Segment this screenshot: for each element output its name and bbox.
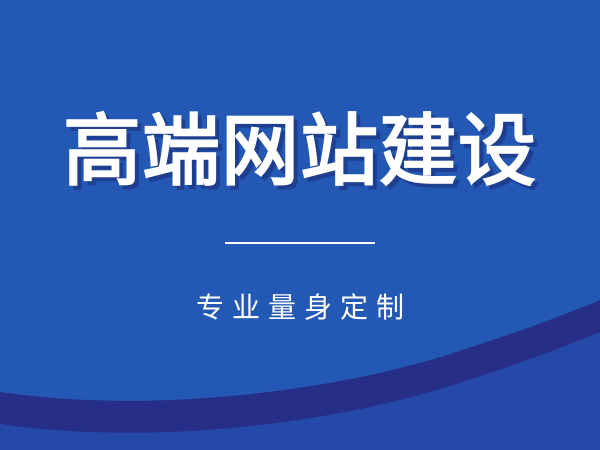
page-subtitle: 专业量身定制 bbox=[0, 291, 600, 325]
banner-content: 高端网站建设 专业量身定制 bbox=[0, 0, 600, 450]
promo-banner: 高端网站建设 专业量身定制 bbox=[0, 0, 600, 450]
page-title: 高端网站建设 bbox=[0, 113, 600, 191]
title-divider bbox=[225, 242, 375, 244]
